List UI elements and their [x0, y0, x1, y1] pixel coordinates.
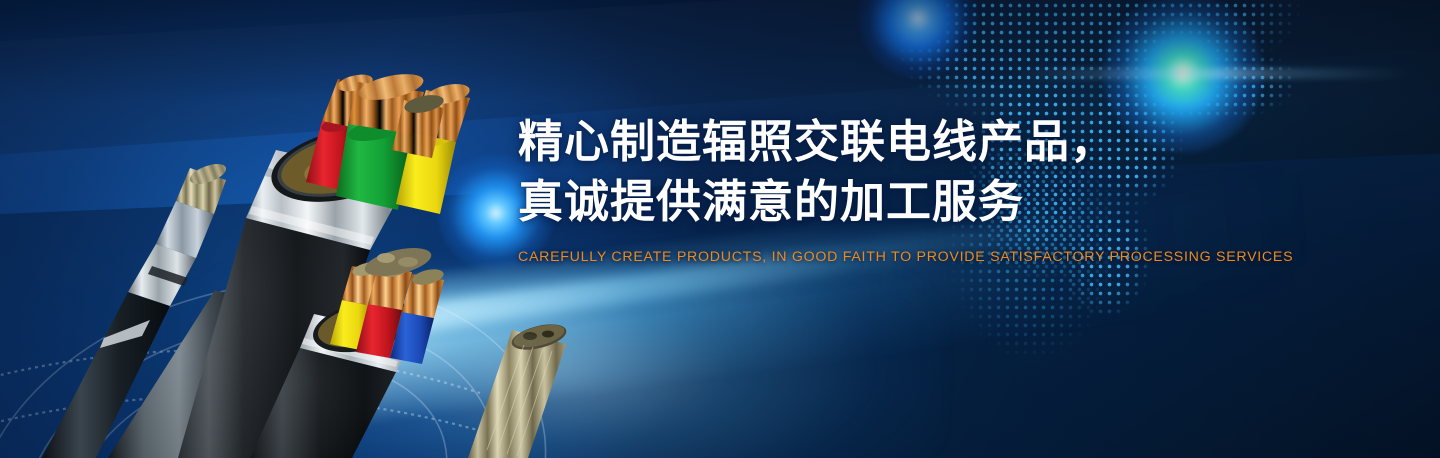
- tinned-stranded-conductor: [468, 320, 569, 458]
- banner-subtitle: CAREFULLY CREATE PRODUCTS, IN GOOD FAITH…: [518, 249, 1368, 265]
- hero-banner: 精心制造辐照交联电线产品， 真诚提供满意的加工服务 CAREFULLY CREA…: [0, 0, 1440, 458]
- banner-copy: 精心制造辐照交联电线产品， 真诚提供满意的加工服务 CAREFULLY CREA…: [518, 112, 1368, 265]
- headline-line-2: 真诚提供满意的加工服务: [518, 172, 1368, 232]
- headline-line-1: 精心制造辐照交联电线产品，: [518, 112, 1368, 172]
